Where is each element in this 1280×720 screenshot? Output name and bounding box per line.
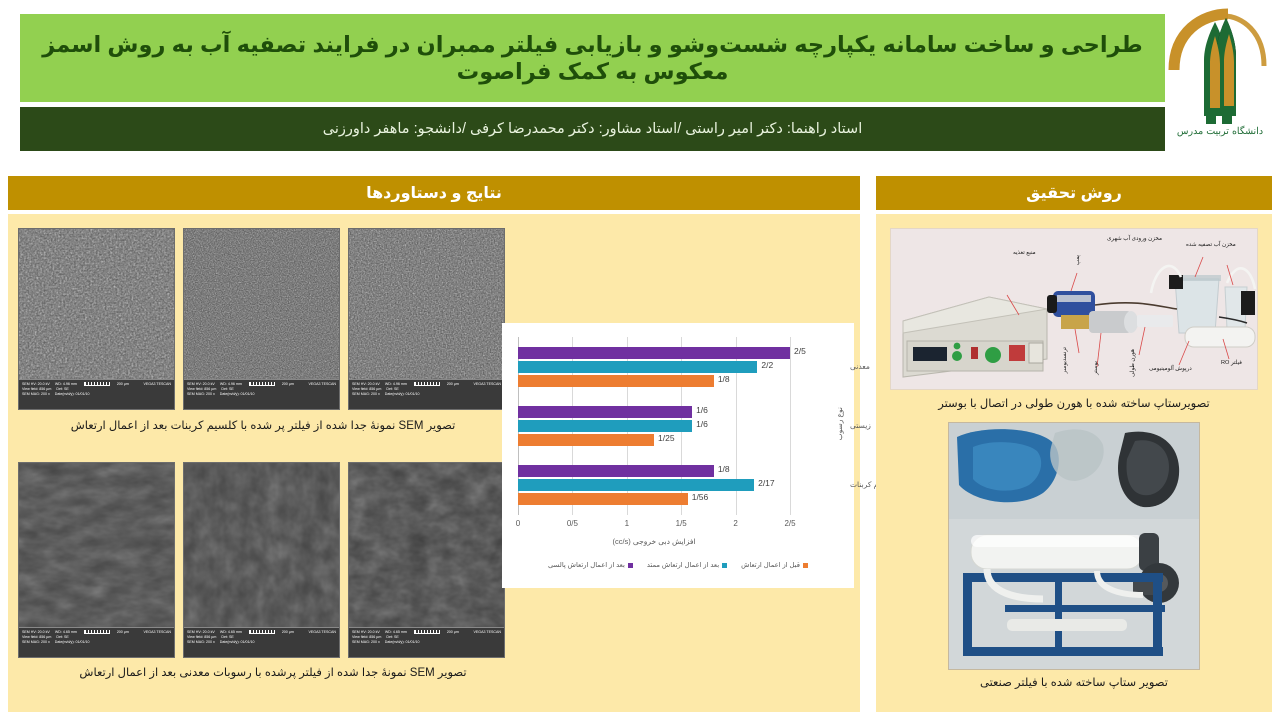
sem-scale: 200 µm xyxy=(447,382,459,387)
sem-date: Date(m/d/y): 01/01/10 xyxy=(220,640,255,645)
chart-plot-area: 2/52/21/81/61/61/251/82/171/56 xyxy=(518,337,790,515)
sem-mag: SEM MAG: 200 x xyxy=(352,392,380,397)
chart-legend-label: قبل از اعمال ارتعاش xyxy=(741,561,800,569)
chart-y-axis-title: نوع رسوب xyxy=(835,407,844,440)
sem-scale: 200 µm xyxy=(117,382,129,387)
chart-bar xyxy=(518,420,692,432)
results-panel: SEM HV: 20.0 kV WD: 4.96 mm 200 µm VEGA3… xyxy=(8,214,860,712)
sem-brand: VEGA3 TESCAN xyxy=(474,382,502,387)
poster-title-band: طراحی و ساخت سامانه یکپارچه شست‌وشو و با… xyxy=(20,14,1165,102)
chart-bar xyxy=(518,479,754,491)
sem-caption-bottom: تصویر SEM نمونهٔ جدا شده از فیلتر پرشده … xyxy=(18,666,528,681)
sem-mag: SEM MAG: 200 x xyxy=(187,640,215,645)
diagram-label-aluminium-cap: درپوش آلومینیومی xyxy=(1149,367,1192,373)
diagram-label-longitudinal-horn: هورن طولی xyxy=(1131,349,1137,377)
chart-legend-swatch xyxy=(722,563,727,568)
chart-bar xyxy=(518,361,757,373)
sem-metadata-footer: SEM HV: 20.0 kV WD: 4.96 mm 200 µm VEGA3… xyxy=(184,379,339,409)
sem-scalebar-icon xyxy=(84,382,110,386)
chart-legend-label: بعد از اعمال ارتعاش پالسی xyxy=(548,561,625,569)
chart-bar-value-label: 1/8 xyxy=(718,464,730,474)
sem-image: SEM HV: 20.0 kV WD: 4.65 mm 200 µm VEGA3… xyxy=(18,462,175,658)
method-panel: منبع تغذیه پمپ مخزن ورودی آب شهری مخزن آ… xyxy=(876,214,1272,712)
sem-brand: VEGA3 TESCAN xyxy=(474,630,502,635)
university-logo: دانشگاه تربیت مدرس xyxy=(1168,8,1272,158)
chart-bar-value-label: 2/17 xyxy=(758,478,775,488)
section-header-method: روش تحقیق xyxy=(876,176,1272,210)
setup-diagram-illustration xyxy=(890,229,1257,390)
industrial-setup-photo xyxy=(948,422,1200,670)
sem-date: Date(m/d/y): 01/01/10 xyxy=(55,640,90,645)
sem-image-row-top: SEM HV: 20.0 kV WD: 4.96 mm 200 µm VEGA3… xyxy=(18,228,505,410)
sem-metadata-footer: SEM HV: 20.0 kV WD: 4.96 mm 200 µm VEGA3… xyxy=(349,379,504,409)
diagram-label-booster: بوستر xyxy=(1094,361,1100,375)
sem-brand: VEGA3 TESCAN xyxy=(144,630,172,635)
sem-metadata-footer: SEM HV: 20.0 kV WD: 4.65 mm 200 µm VEGA3… xyxy=(349,627,504,657)
chart-legend-swatch xyxy=(803,563,808,568)
chart-x-tick: 0 xyxy=(516,519,520,528)
chart-bar xyxy=(518,375,714,387)
sem-brand: VEGA3 TESCAN xyxy=(309,382,337,387)
sem-scale: 200 µm xyxy=(117,630,129,635)
chart-bar-value-label: 1/6 xyxy=(696,419,708,429)
sem-scale: 200 µm xyxy=(282,630,294,635)
chart-legend: قبل از اعمال ارتعاشبعد از اعمال ارتعاش م… xyxy=(518,561,838,569)
chart-legend-item: قبل از اعمال ارتعاش xyxy=(741,561,808,569)
sem-date: Date(m/d/y): 01/01/10 xyxy=(385,640,420,645)
sem-image-row-bottom: SEM HV: 20.0 kV WD: 4.65 mm 200 µm VEGA3… xyxy=(18,462,505,658)
chart-bar xyxy=(518,493,688,505)
diagram-label-treated-water-tank: مخزن آب تصفیه شده xyxy=(1186,243,1236,249)
sem-metadata-footer: SEM HV: 20.0 kV WD: 4.65 mm 200 µm VEGA3… xyxy=(184,627,339,657)
chart-legend-item: بعد از اعمال ارتعاش ممتد xyxy=(647,561,727,569)
sem-scalebar-icon xyxy=(414,382,440,386)
chart-x-tick: 1/5 xyxy=(676,519,687,528)
sem-date: Date(m/d/y): 01/01/10 xyxy=(55,392,90,397)
chart-gridline xyxy=(790,337,791,515)
sem-caption-top: تصویر SEM نمونهٔ جدا شده از فیلتر پر شده… xyxy=(18,419,508,434)
sem-metadata-footer: SEM HV: 20.0 kV WD: 4.96 mm 200 µm VEGA3… xyxy=(19,379,174,409)
setup-diagram-photo: منبع تغذیه پمپ مخزن ورودی آب شهری مخزن آ… xyxy=(890,228,1258,390)
sem-mag: SEM MAG: 200 x xyxy=(22,392,50,397)
setup-diagram-caption: تصویرستاپ ساخته شده با هورن طولی در اتصا… xyxy=(890,397,1258,412)
sem-mag: SEM MAG: 200 x xyxy=(22,640,50,645)
sem-date: Date(m/d/y): 01/01/10 xyxy=(220,392,255,397)
chart-bar xyxy=(518,347,790,359)
sem-scalebar-icon xyxy=(249,630,275,634)
sem-brand: VEGA3 TESCAN xyxy=(309,630,337,635)
chart-legend-swatch xyxy=(628,563,633,568)
sem-scalebar-icon xyxy=(249,382,275,386)
flow-increase-bar-chart: نوع رسوب 2/52/21/81/61/61/251/82/171/56 … xyxy=(502,323,854,588)
chart-legend-item: بعد از اعمال ارتعاش پالسی xyxy=(548,561,633,569)
industrial-setup-illustration xyxy=(948,423,1199,670)
diagram-label-pump: پمپ xyxy=(1076,255,1082,265)
sem-image: SEM HV: 20.0 kV WD: 4.96 mm 200 µm VEGA3… xyxy=(183,228,340,410)
sem-brand: VEGA3 TESCAN xyxy=(144,382,172,387)
sem-metadata-footer: SEM HV: 20.0 kV WD: 4.65 mm 200 µm VEGA3… xyxy=(19,627,174,657)
chart-legend-label: بعد از اعمال ارتعاش ممتد xyxy=(647,561,719,569)
sem-image: SEM HV: 20.0 kV WD: 4.96 mm 200 µm VEGA3… xyxy=(348,228,505,410)
chart-bar-value-label: 2/5 xyxy=(794,346,806,356)
diagram-label-transducer: ترنسدیوسر xyxy=(1063,347,1069,373)
sem-mag: SEM MAG: 200 x xyxy=(187,392,215,397)
chart-x-tick-labels: 00/511/522/5 xyxy=(518,519,790,531)
page-title: طراحی و ساخت سامانه یکپارچه شست‌وشو و با… xyxy=(34,31,1151,86)
chart-bar xyxy=(518,406,692,418)
diagram-label-ro-filter: فیلتر RO xyxy=(1221,361,1242,367)
section-header-results: نتایج و دستاوردها xyxy=(8,176,860,210)
diagram-label-tap-water-tank: مخزن ورودی آب شهری xyxy=(1107,237,1162,243)
sem-mag: SEM MAG: 200 x xyxy=(352,640,380,645)
sem-image: SEM HV: 20.0 kV WD: 4.96 mm 200 µm VEGA3… xyxy=(18,228,175,410)
chart-bar-value-label: 1/6 xyxy=(696,405,708,415)
chart-x-tick: 2 xyxy=(733,519,737,528)
sem-image: SEM HV: 20.0 kV WD: 4.65 mm 200 µm VEGA3… xyxy=(348,462,505,658)
chart-x-tick: 2/5 xyxy=(784,519,795,528)
sem-scalebar-icon xyxy=(414,630,440,634)
sem-scale: 200 µm xyxy=(447,630,459,635)
poster-header: طراحی و ساخت سامانه یکپارچه شست‌وشو و با… xyxy=(0,0,1280,165)
chart-bar-value-label: 1/25 xyxy=(658,433,675,443)
chart-bar xyxy=(518,465,714,477)
sem-scale: 200 µm xyxy=(282,382,294,387)
sem-image: SEM HV: 20.0 kV WD: 4.65 mm 200 µm VEGA3… xyxy=(183,462,340,658)
chart-x-tick: 1 xyxy=(625,519,629,528)
logo-mark-icon xyxy=(1168,8,1272,128)
chart-bar-value-label: 2/2 xyxy=(761,360,773,370)
industrial-setup-caption: تصویر ستاپ ساخته شده با فیلتر صنعتی xyxy=(890,676,1258,691)
chart-bar-value-label: 1/8 xyxy=(718,374,730,384)
poster-authors-band: استاد راهنما: دکتر امیر راستی /استاد مشا… xyxy=(20,107,1165,151)
sem-scalebar-icon xyxy=(84,630,110,634)
chart-x-axis-title: افزایش دبی خروجی (cc/s) xyxy=(518,537,790,546)
section-header-results-label: نتایج و دستاوردها xyxy=(366,183,502,203)
diagram-label-power-supply: منبع تغذیه xyxy=(1013,251,1036,257)
logo-caption: دانشگاه تربیت مدرس xyxy=(1168,126,1272,137)
chart-bar-value-label: 1/56 xyxy=(692,492,709,502)
chart-x-tick: 0/5 xyxy=(567,519,578,528)
sem-date: Date(m/d/y): 01/01/10 xyxy=(385,392,420,397)
chart-bar xyxy=(518,434,654,446)
section-header-method-label: روش تحقیق xyxy=(1026,183,1122,203)
authors-line: استاد راهنما: دکتر امیر راستی /استاد مشا… xyxy=(323,121,862,137)
